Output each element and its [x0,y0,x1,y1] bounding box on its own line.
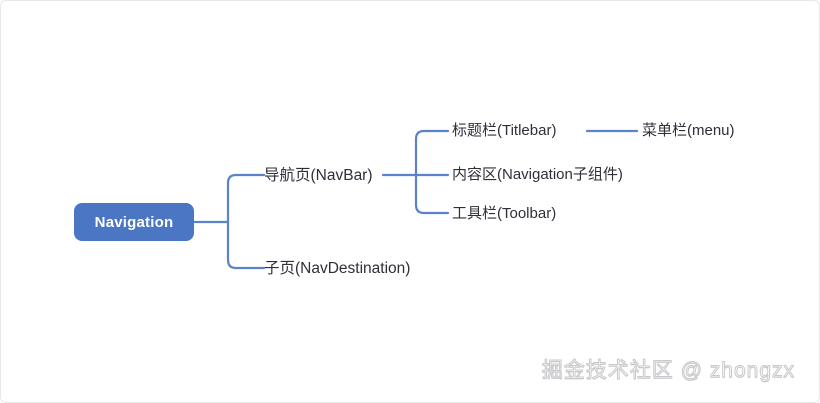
connector-lines [1,1,820,403]
node-toolbar-label: 工具栏(Toolbar) [452,205,556,222]
connector-root-to-navdest [228,222,264,268]
node-titlebar[interactable]: 标题栏(Titlebar) [452,123,556,138]
watermark: 掘金技术社区 @ zhongzx [542,354,795,384]
connector-navbar-to-toolbar [416,175,448,213]
node-menu-label: 菜单栏(menu) [642,122,735,139]
node-titlebar-label: 标题栏(Titlebar) [452,122,556,139]
mindmap-canvas: Navigation 导航页(NavBar) 子页(NavDestination… [0,0,820,403]
node-navigation-root-label: Navigation [95,214,174,231]
node-toolbar[interactable]: 工具栏(Toolbar) [452,206,556,221]
node-navbar[interactable]: 导航页(NavBar) [264,168,373,184]
node-navdestination-label: 子页(NavDestination) [264,260,410,277]
connector-root-to-navbar [228,175,264,222]
node-navbar-label: 导航页(NavBar) [264,167,373,184]
connector-navbar-to-titlebar [416,131,448,175]
node-content-area-label: 内容区(Navigation子组件) [452,166,623,183]
node-menu[interactable]: 菜单栏(menu) [642,123,735,138]
node-content-area[interactable]: 内容区(Navigation子组件) [452,167,623,182]
node-navdestination[interactable]: 子页(NavDestination) [264,261,410,277]
node-navigation-root[interactable]: Navigation [74,203,194,241]
